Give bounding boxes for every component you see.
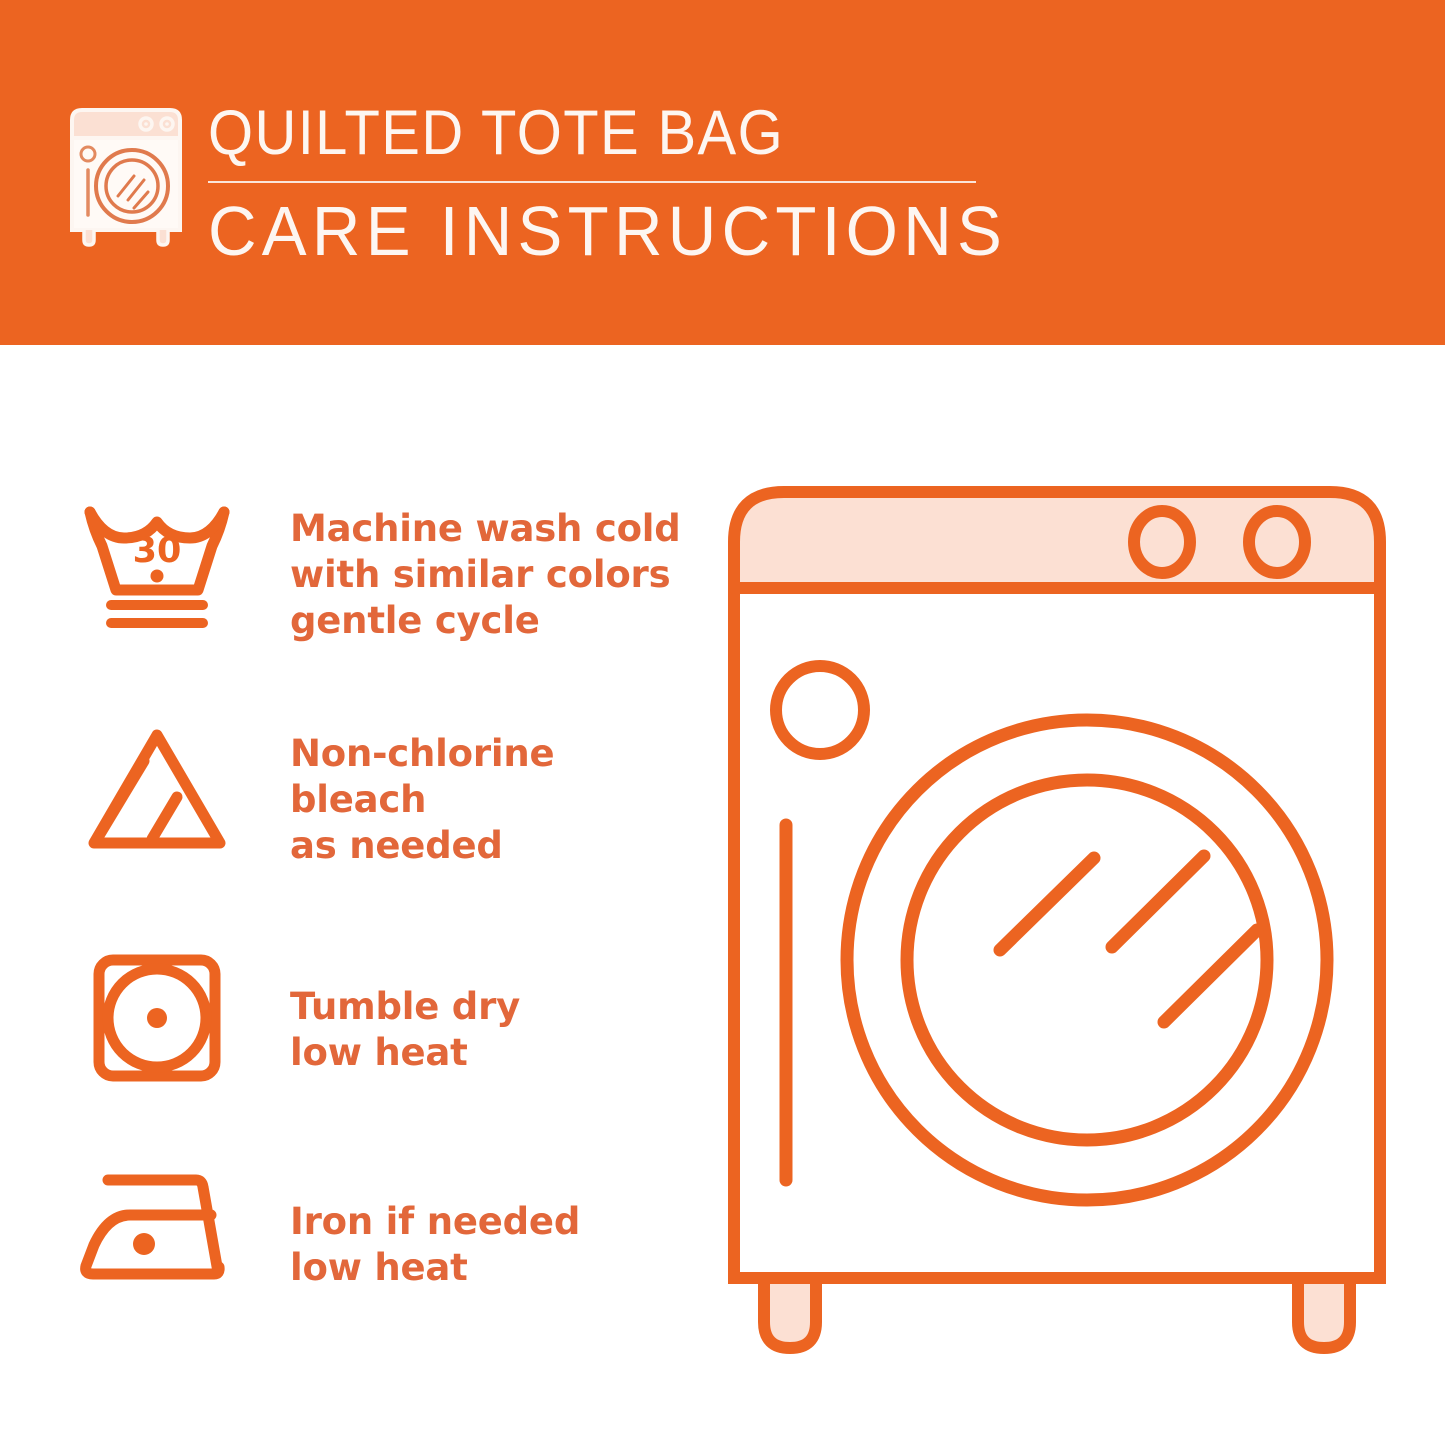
care-row-bleach: Non-chlorine bleach as needed <box>0 705 700 895</box>
page-title: QUILTED TOTE BAG <box>208 96 935 170</box>
care-line: low heat <box>290 1030 520 1076</box>
care-text-machine-wash: Machine wash cold with similar colors ge… <box>290 506 681 644</box>
care-line: Iron if needed <box>290 1199 580 1245</box>
care-line: Non-chlorine bleach <box>290 731 700 823</box>
body <box>734 588 1380 1278</box>
title-divider <box>208 181 976 183</box>
page-subtitle: CARE INSTRUCTIONS <box>208 191 966 271</box>
washing-machine-icon <box>66 100 186 248</box>
header-text-block: QUILTED TOTE BAG CARE INSTRUCTIONS <box>208 96 998 271</box>
tumble-dry-low-icon <box>72 935 242 1105</box>
wash-tub-30-gentle-icon: 30 <box>72 480 242 650</box>
care-line: low heat <box>290 1245 580 1291</box>
care-row-iron: Iron if needed low heat <box>0 1150 700 1340</box>
care-line: Tumble dry <box>290 984 520 1030</box>
care-text-iron: Iron if needed low heat <box>290 1199 580 1291</box>
care-text-tumble-dry: Tumble dry low heat <box>290 984 520 1076</box>
care-line: Machine wash cold <box>290 506 681 552</box>
washing-machine-illustration <box>712 470 1402 1370</box>
header-banner: QUILTED TOTE BAG CARE INSTRUCTIONS <box>0 0 1445 345</box>
care-row-tumble-dry: Tumble dry low heat <box>0 935 700 1125</box>
care-line: gentle cycle <box>290 598 681 644</box>
non-chlorine-bleach-triangle-icon <box>72 705 242 875</box>
wash-temp-label: 30 <box>133 531 182 571</box>
care-text-bleach: Non-chlorine bleach as needed <box>290 731 700 869</box>
iron-low-heat-icon <box>72 1150 242 1320</box>
care-row-machine-wash: 30 Machine wash cold with similar colors… <box>0 480 700 670</box>
care-line: with similar colors <box>290 552 681 598</box>
care-instructions-page: QUILTED TOTE BAG CARE INSTRUCTIONS <box>0 0 1445 1445</box>
care-line: as needed <box>290 823 700 869</box>
